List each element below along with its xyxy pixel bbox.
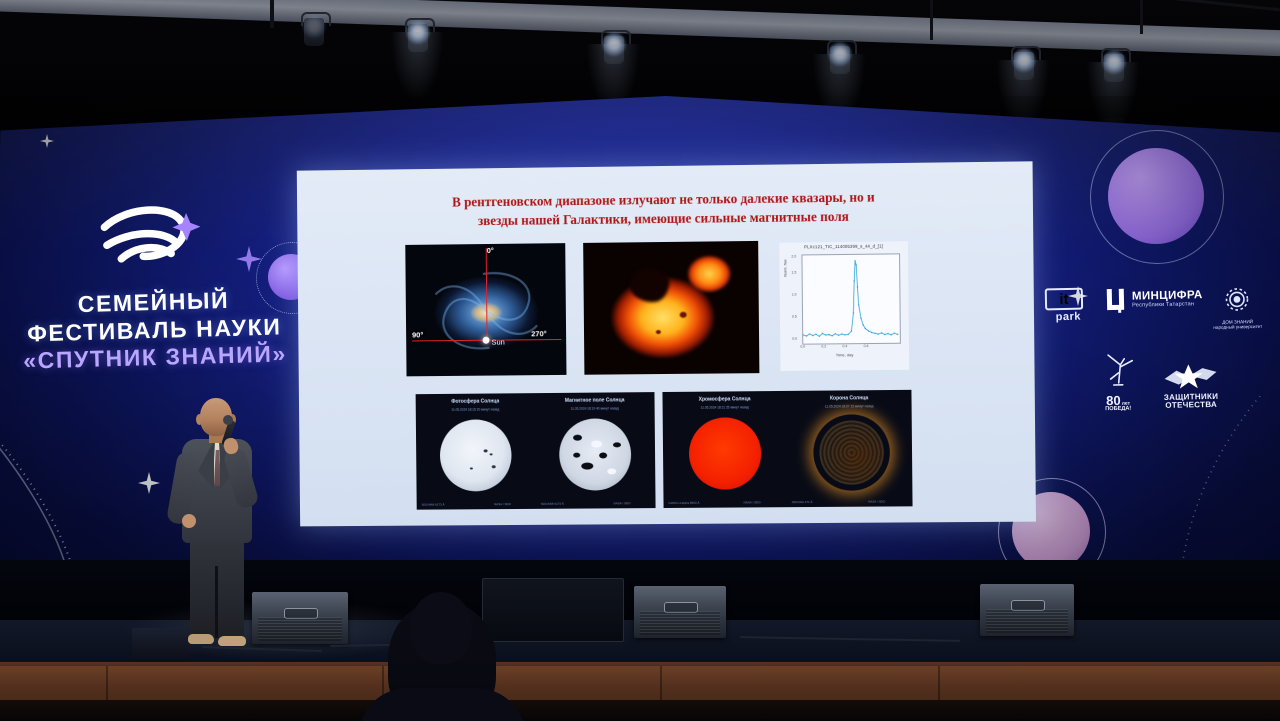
figure-xray-source	[583, 241, 759, 375]
sponsor-logo-dom-znaniy: ДОМ ЗНАНИЙ народный университет	[1212, 284, 1262, 331]
lightcurve-xtick: 0.4	[843, 344, 848, 348]
corona-disk	[813, 414, 890, 491]
lightcurve-axes	[801, 253, 900, 344]
sponsor-logo-80-let-pobedy: 80 лет ПОБЕДА!	[1098, 348, 1137, 412]
lightcurve-series	[802, 254, 899, 343]
sun-panel-footer-left: SDO/AIA 171 Å	[792, 500, 813, 504]
presenter	[168, 398, 264, 650]
stage-scene: СЕМЕЙНЫЙ ФЕСТИВАЛЬ НАУКИ «СПУТНИК ЗНАНИЙ…	[0, 0, 1280, 721]
slide-title: В рентгеновском диапазоне излучают не то…	[356, 186, 972, 232]
lightcurve-ytick: 1.0	[792, 293, 797, 297]
figure-sun-panel-pair-left: Фотосфера Солнца 11.05.2024 18:15 20 мин…	[416, 392, 656, 510]
mincifra-mark-icon	[1105, 287, 1128, 313]
satellite-comet-logo-icon	[86, 194, 218, 278]
slide-figure-row-top: 0° 90° 270° Sun PLXc121_TIC_114005399_s_…	[297, 238, 1034, 383]
mincifra-sub: Республики Татарстан	[1132, 301, 1203, 308]
magnetogram-disk	[559, 418, 631, 490]
sun-panel-title: Корона Солнца	[787, 395, 912, 402]
sun-panel-subtitle: 11.05.2024 18:11 25 минут назад	[663, 405, 787, 410]
sun-panel-footer-right: NASA / SDO	[494, 502, 511, 506]
lightcurve-xtick: 0.0	[800, 345, 805, 349]
presentation-slide: В рентгеновском диапазоне излучают не то…	[297, 161, 1036, 526]
lightcurve-ytick: 0.5	[792, 315, 797, 319]
motherland-statue-icon	[1098, 348, 1137, 389]
lightcurve-ytick: 0.0	[792, 337, 797, 341]
sun-panel-title: Хромосфера Солнца	[662, 396, 786, 403]
star-decoration-icon	[40, 134, 54, 148]
zashchitniki-line2: ОТЕЧЕСТВА	[1163, 401, 1219, 411]
presenter-shoe	[188, 634, 214, 644]
stage-monitor-wedge	[634, 586, 726, 638]
stage-monitor-wedge	[252, 592, 348, 644]
figure-lightcurve-plot: PLXc121_TIC_114005399_s_44_d_[1] Norm. f…	[779, 241, 909, 371]
audience-member-silhouette	[352, 592, 532, 721]
stage-monitor-wedge	[980, 584, 1074, 636]
galaxy-label-sun: Sun	[491, 338, 504, 347]
lightcurve-ytick: 2.0	[791, 255, 796, 259]
lightcurve-xlabel: Time, day	[780, 352, 909, 358]
chromosphere-disk	[689, 417, 762, 490]
dom-znaniy-line2: народный университет	[1213, 324, 1262, 330]
sun-panel-footer-left: GONG H-alpha 6563 Å	[668, 501, 699, 505]
pobeda-word: ПОБЕДА!	[1099, 406, 1137, 412]
festival-branding: СЕМЕЙНЫЙ ФЕСТИВАЛЬ НАУКИ «СПУТНИК ЗНАНИЙ…	[16, 192, 291, 375]
galaxy-label-left: 90°	[412, 330, 423, 339]
sun-marker	[483, 336, 490, 343]
star-decoration-icon	[138, 472, 160, 494]
lightcurve-ytick: 1.5	[792, 271, 797, 275]
sun-panel-subtitle: 11.05.2024 18:07 15 минут назад	[787, 404, 912, 409]
planet-ring-decoration	[1090, 130, 1224, 264]
sun-panel-footer-left: SDO/HMI 6173 Å	[541, 502, 564, 506]
sun-panel-footer-right: NASA / SDO	[744, 500, 761, 504]
microphone-capsule-icon	[223, 415, 233, 425]
pobeda-number: 80	[1106, 393, 1121, 406]
lightcurve-xtick: 0.6	[864, 344, 869, 348]
it-park-word: park	[1045, 310, 1091, 323]
star-ribbon-icon	[1162, 361, 1219, 388]
lightcurve-ylabel: Norm. flux	[783, 259, 787, 276]
presenter-shoe	[218, 636, 246, 646]
sponsor-logo-zashchitniki: ЗАЩИТНИКИ ОТЕЧЕСТВА	[1162, 361, 1219, 411]
lightcurve-title: PLXc121_TIC_114005399_s_44_d_[1]	[779, 243, 908, 249]
sun-panel-footer-left: SDO/HMI 6173 Å	[422, 503, 445, 507]
figure-sun-panel-pair-right: Хромосфера Солнца 11.05.2024 18:11 25 ми…	[662, 390, 912, 508]
sun-panel-subtitle: 11.05.2024 18:10 40 минут назад	[535, 406, 655, 411]
sponsor-logo-it-park: it park	[1045, 287, 1092, 323]
galaxy-label-top: 0°	[487, 246, 494, 255]
slide-figure-row-bottom: Фотосфера Солнца 11.05.2024 18:15 20 мин…	[299, 389, 1036, 515]
orchestra-pit-shadow	[0, 700, 1280, 721]
gear-emblem-icon	[1222, 284, 1253, 315]
figure-milky-way-map: 0° 90° 270° Sun	[405, 243, 566, 376]
galaxy-label-right: 270°	[531, 329, 547, 338]
lightcurve-xtick: 0.2	[821, 344, 826, 348]
sun-panel-title: Магнитное поле Солнца	[535, 397, 655, 404]
sun-panel-footer-right: NASA / SDO	[868, 499, 885, 503]
photosphere-disk	[440, 419, 512, 491]
sponsor-logo-mincifra: МИНЦИФРА Республики Татарстан	[1105, 285, 1203, 313]
sun-panel-subtitle: 11.05.2024 18:15 20 минут назад	[416, 407, 535, 412]
sponsor-logo-block: it park МИНЦИФРА Республики Татарстан	[1045, 284, 1278, 414]
presenter-hand	[182, 514, 196, 528]
sun-panel-title: Фотосфера Солнца	[416, 398, 535, 405]
sun-panel-footer-right: NASA / SDO	[614, 501, 631, 505]
it-park-mark: it	[1045, 288, 1083, 311]
